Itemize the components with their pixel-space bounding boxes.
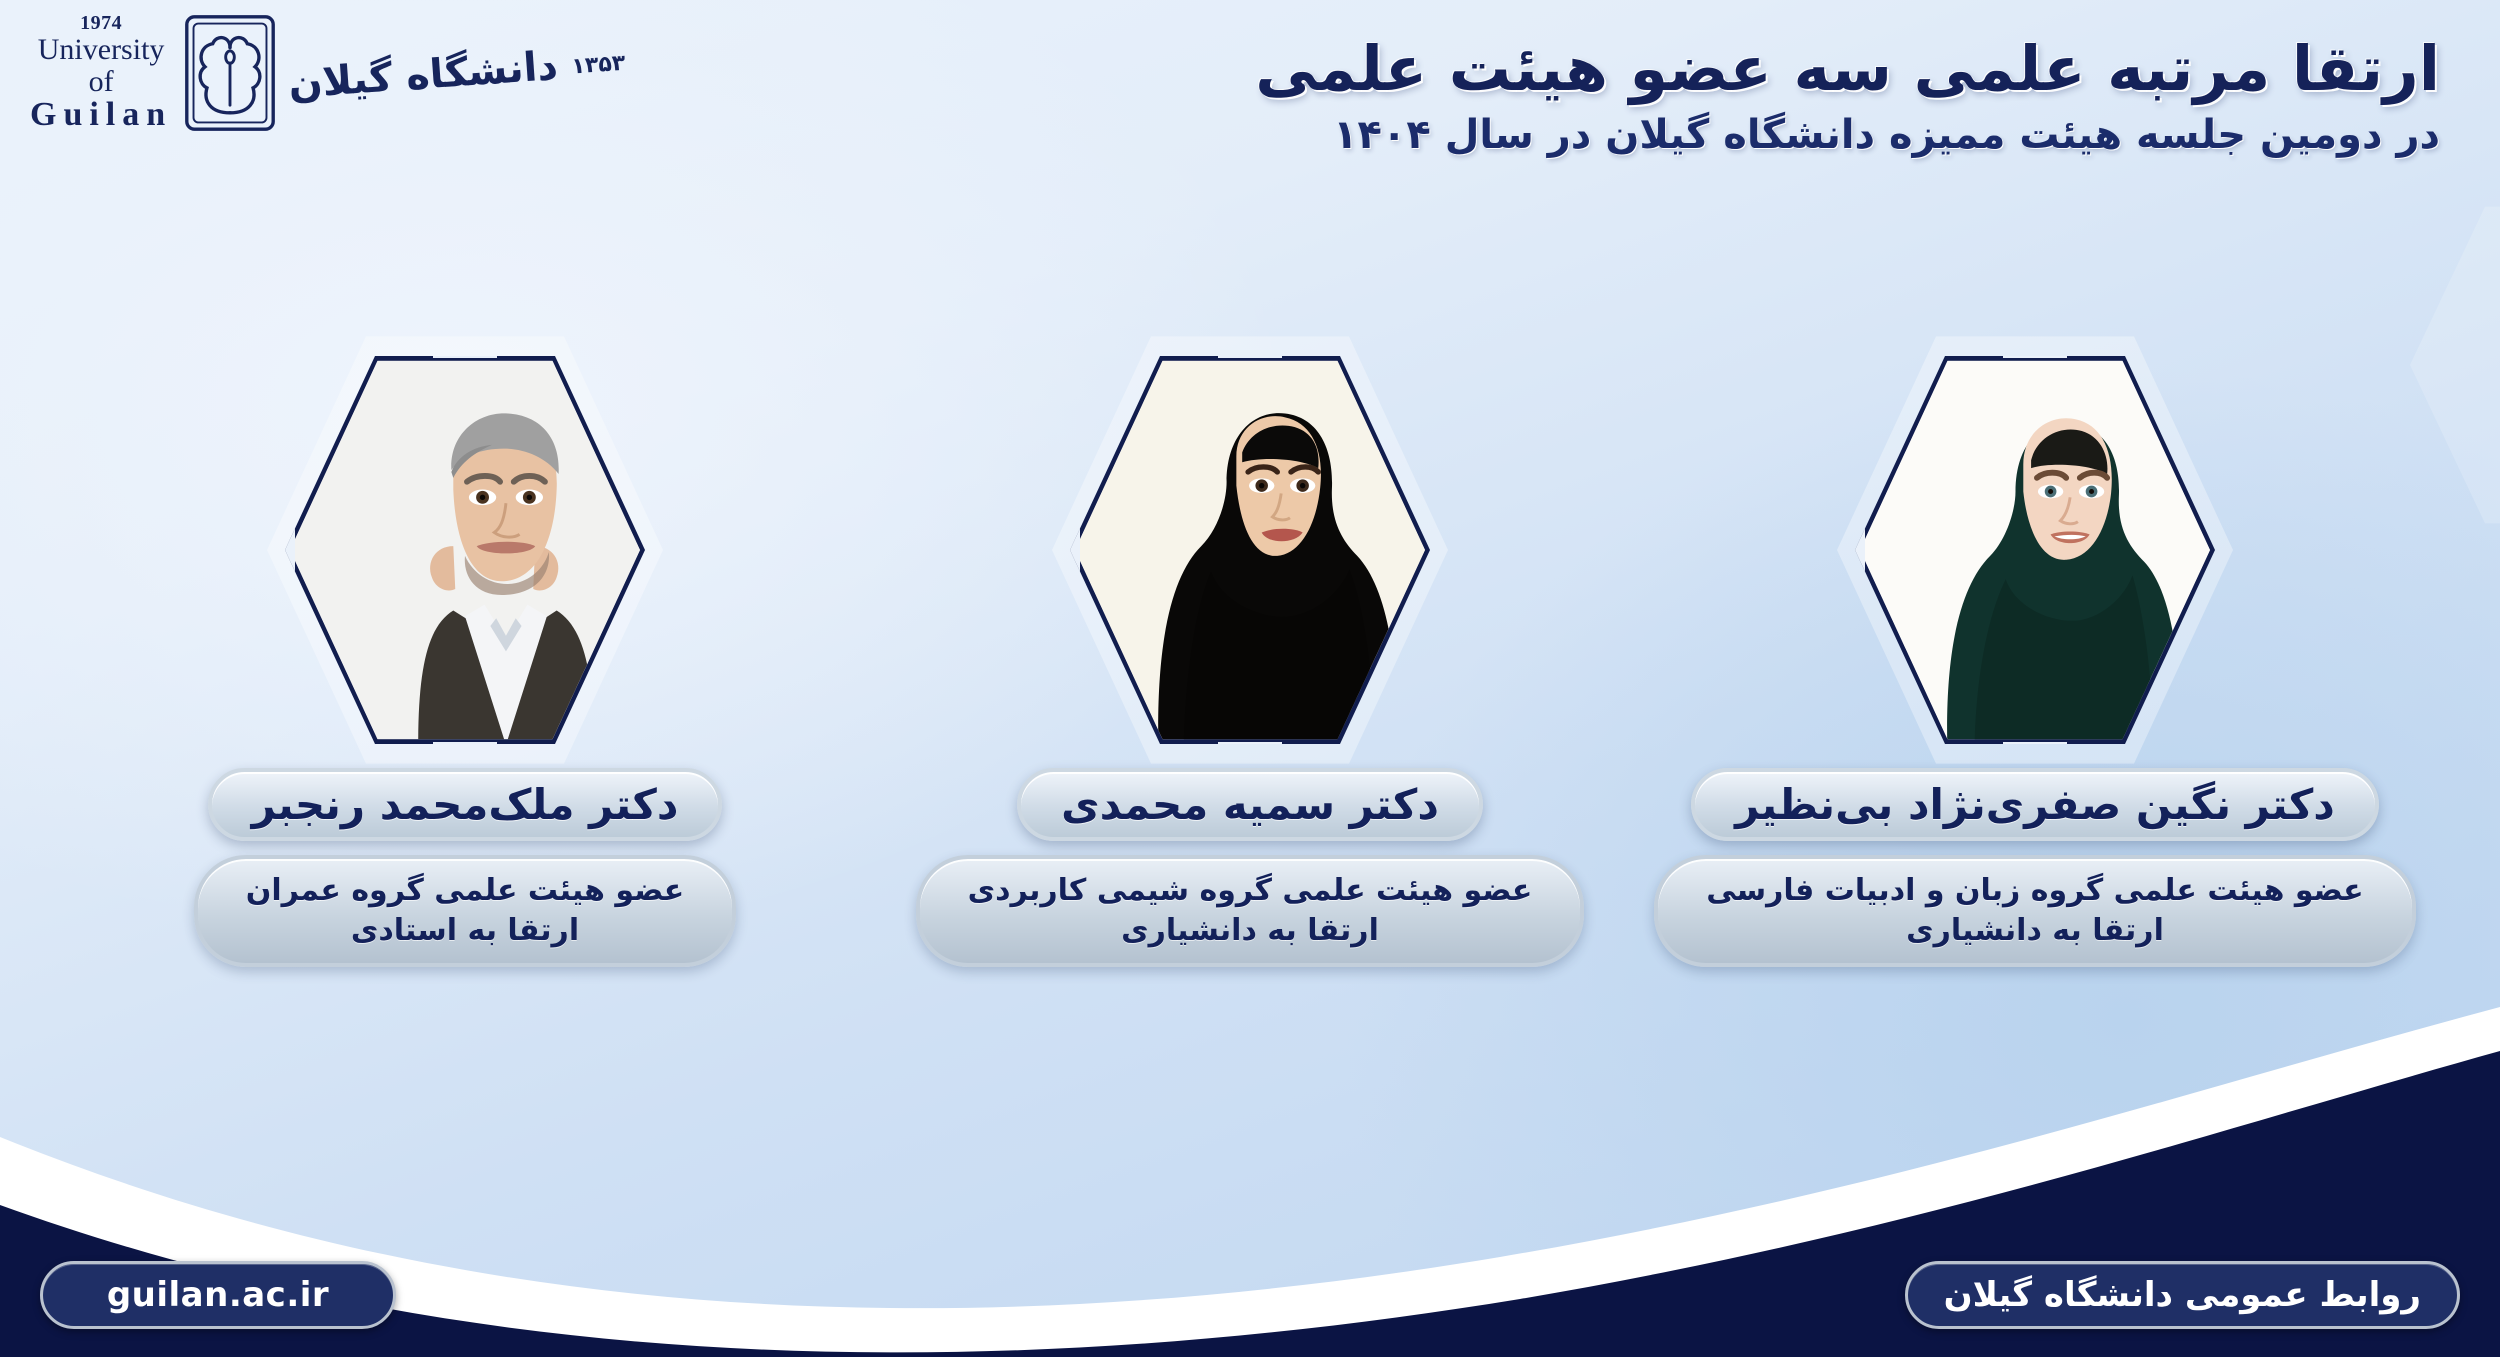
university-logo: 1974 University of Guilan ۱۳۵۳ دانشگاه گ… <box>30 8 490 138</box>
logo-line2-en: Guilan <box>30 97 172 133</box>
faculty-name: دکتر سمیه محمدی <box>1017 768 1483 841</box>
logo-english-text: 1974 University of Guilan <box>30 13 172 133</box>
photo-frame <box>1070 350 1430 750</box>
header-block: ارتقا مرتبه علمی سه عضو هیئت علمی در دوم… <box>960 34 2440 159</box>
faculty-name: دکتر ملک‌محمد رنجبر <box>208 768 723 841</box>
public-relations-badge: روابط عمومی دانشگاه گیلان <box>1905 1261 2460 1329</box>
website-badge[interactable]: guilan.ac.ir <box>40 1261 396 1329</box>
faculty-name: دکتر نگین صفری‌نژاد بی‌نظیر <box>1691 768 2379 841</box>
logo-persian-text: ۱۳۵۳ دانشگاه گیلان <box>287 38 627 107</box>
logo-year-en: 1974 <box>30 13 172 34</box>
page-title: ارتقا مرتبه علمی سه عضو هیئت علمی <box>960 34 2440 103</box>
logo-year-fa: ۱۳۵۳ <box>571 51 626 80</box>
logo-line1-en: University of <box>30 34 172 97</box>
footer-bar: guilan.ac.ir روابط عمومی دانشگاه گیلان <box>0 1232 2500 1357</box>
photo-frame <box>1855 350 2215 750</box>
photo-frame <box>285 350 645 750</box>
page-subtitle: در دومین جلسه هیئت ممیزه دانشگاه گیلان د… <box>960 111 2440 159</box>
logo-name-fa: دانشگاه گیلان <box>287 43 559 108</box>
guilan-emblem-icon <box>182 13 278 133</box>
poster-canvas: 1974 University of Guilan ۱۳۵۳ دانشگاه گ… <box>0 0 2500 1357</box>
